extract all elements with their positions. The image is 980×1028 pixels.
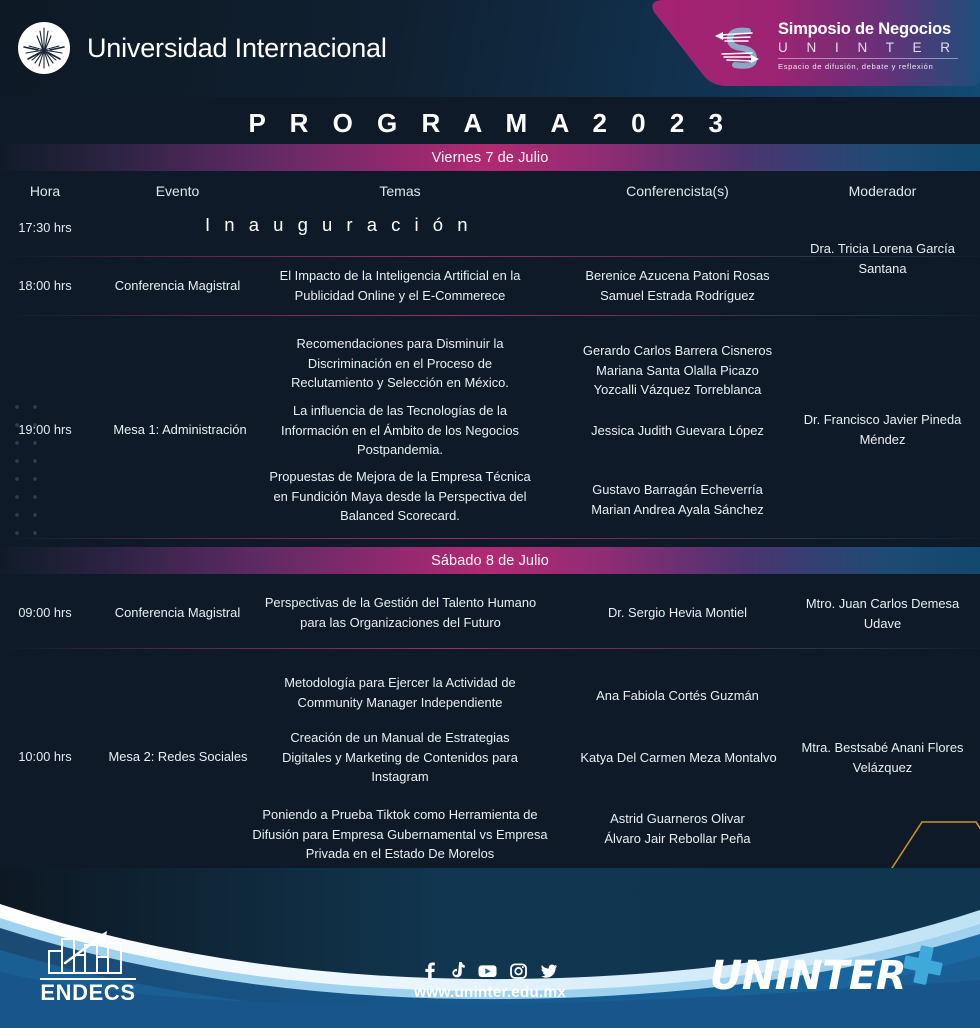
- footer-wave-decoration: [0, 868, 980, 1028]
- row-evento: Conferencia Magistral: [110, 603, 245, 623]
- row-conferencistas: Berenice Azucena Patoni Rosas Samuel Est…: [575, 266, 780, 305]
- university-name: Universidad Internacional: [87, 33, 387, 64]
- row-conferencista-1: Gerardo Carlos Barrera Cisneros Mariana …: [575, 341, 780, 400]
- row-evento: Conferencia Magistral: [110, 276, 245, 296]
- row-tema-3: Poniendo a Prueba Tiktok como Herramient…: [240, 805, 560, 864]
- university-seal-icon: [18, 22, 70, 74]
- simposio-uninter: U N I N T E R: [778, 39, 958, 59]
- row-temas-inauguracion: I n a u g u r a c i ó n: [205, 214, 505, 236]
- table-row: 19:00 hrs Mesa 1: Administración Recomen…: [0, 322, 980, 537]
- facebook-icon[interactable]: [422, 962, 437, 980]
- simposio-s-arrow-icon: [708, 18, 766, 74]
- day-banner-friday: Viernes 7 de Julio: [0, 144, 980, 171]
- instagram-icon[interactable]: [510, 962, 527, 980]
- column-headers: Hora Evento Temas Conferencista(s) Moder…: [0, 183, 980, 213]
- row-conferencista-3: Astrid Guarneros Olivar Álvaro Jair Rebo…: [575, 809, 780, 848]
- row-hora: 09:00 hrs: [0, 603, 90, 622]
- programa-poster: Universidad Internacional: [0, 0, 980, 1028]
- row-moderador: Dr. Francisco Javier Pineda Méndez: [795, 410, 970, 450]
- row-hora: 18:00 hrs: [0, 276, 90, 295]
- row-conferencistas: Dr. Sergio Hevia Montiel: [575, 603, 780, 623]
- row-conferencista-1: Ana Fabiola Cortés Guzmán: [575, 686, 780, 706]
- column-header-evento: Evento: [110, 183, 245, 199]
- rainbow-stripe: [0, 1017, 980, 1028]
- university-brand: Universidad Internacional: [18, 22, 387, 74]
- row-tema-2: La influencia de las Tecnologías de la I…: [265, 401, 535, 460]
- row-tema-1: Recomendaciones para Disminuir la Discri…: [265, 334, 535, 393]
- row-conferencista-3: Gustavo Barragán Echeverría Marian Andre…: [575, 480, 780, 519]
- column-header-conferencistas: Conferencista(s): [575, 183, 780, 199]
- row-temas: El Impacto de la Inteligencia Artificial…: [265, 266, 535, 305]
- row-conferencista-2: Jessica Judith Guevara López: [575, 421, 780, 441]
- row-temas: Perspectivas de la Gestión del Talento H…: [258, 593, 543, 632]
- row-tema-3: Propuestas de Mejora de la Empresa Técni…: [265, 467, 535, 526]
- row-hora: 19:00 hrs: [0, 420, 90, 439]
- website-url[interactable]: www.uninter.edu.mx: [414, 984, 566, 1002]
- column-header-moderador: Moderador: [795, 183, 970, 199]
- tiktok-icon[interactable]: [450, 962, 465, 980]
- plus-icon: [900, 942, 946, 988]
- row-evento: Mesa 1: Administración: [105, 420, 255, 440]
- simposio-ribbon: Simposio de Negocios U N I N T E R Espac…: [650, 0, 980, 97]
- simposio-title: Simposio de Negocios: [778, 21, 958, 38]
- column-header-hora: Hora: [0, 183, 90, 199]
- table-row: 09:00 hrs Conferencia Magistral Perspect…: [0, 589, 980, 641]
- row-evento: Mesa 2: Redes Sociales: [103, 747, 253, 767]
- endecs-buildings-arrow-icon: [45, 925, 131, 977]
- row-conferencista-2: Katya Del Carmen Meza Montalvo: [566, 748, 791, 768]
- simposio-logo: Simposio de Negocios U N I N T E R Espac…: [708, 18, 958, 74]
- row-moderador: Mtra. Bestsabé Anani Flores Velázquez: [795, 738, 970, 778]
- poster-footer: ENDECS: [0, 868, 980, 1028]
- row-divider: [0, 315, 980, 316]
- simposio-tagline: Espacio de difusión, debate y reflexión: [778, 62, 958, 71]
- row-tema-2: Creación de un Manual de Estrategias Dig…: [265, 728, 535, 787]
- twitter-icon[interactable]: [540, 962, 558, 980]
- row-divider: [0, 256, 980, 257]
- day-banner-saturday: Sábado 8 de Julio: [0, 547, 980, 574]
- row-hora: 17:30 hrs: [0, 218, 90, 237]
- column-header-temas: Temas: [300, 183, 500, 199]
- poster-header: Universidad Internacional: [0, 0, 980, 97]
- row-moderador: Mtro. Juan Carlos Demesa Udave: [795, 594, 970, 634]
- uninter-wordmark: UNINTER: [710, 956, 906, 996]
- uninter-logo: UNINTER: [710, 956, 952, 1002]
- row-divider: [0, 538, 980, 539]
- row-divider: [0, 648, 980, 649]
- social-block: www.uninter.edu.mx: [414, 962, 566, 1002]
- social-icons: [414, 962, 566, 980]
- page-title: P R O G R A M A 2 0 2 3: [0, 108, 980, 139]
- table-row: 18:00 hrs Conferencia Magistral El Impac…: [0, 262, 980, 312]
- table-row: 10:00 hrs Mesa 2: Redes Sociales Metodol…: [0, 660, 980, 875]
- row-hora: 10:00 hrs: [0, 747, 90, 766]
- endecs-logo: ENDECS: [36, 925, 140, 1004]
- youtube-icon[interactable]: [478, 962, 497, 980]
- row-tema-1: Metodología para Ejercer la Actividad de…: [265, 673, 535, 712]
- endecs-label: ENDECS: [40, 978, 135, 1004]
